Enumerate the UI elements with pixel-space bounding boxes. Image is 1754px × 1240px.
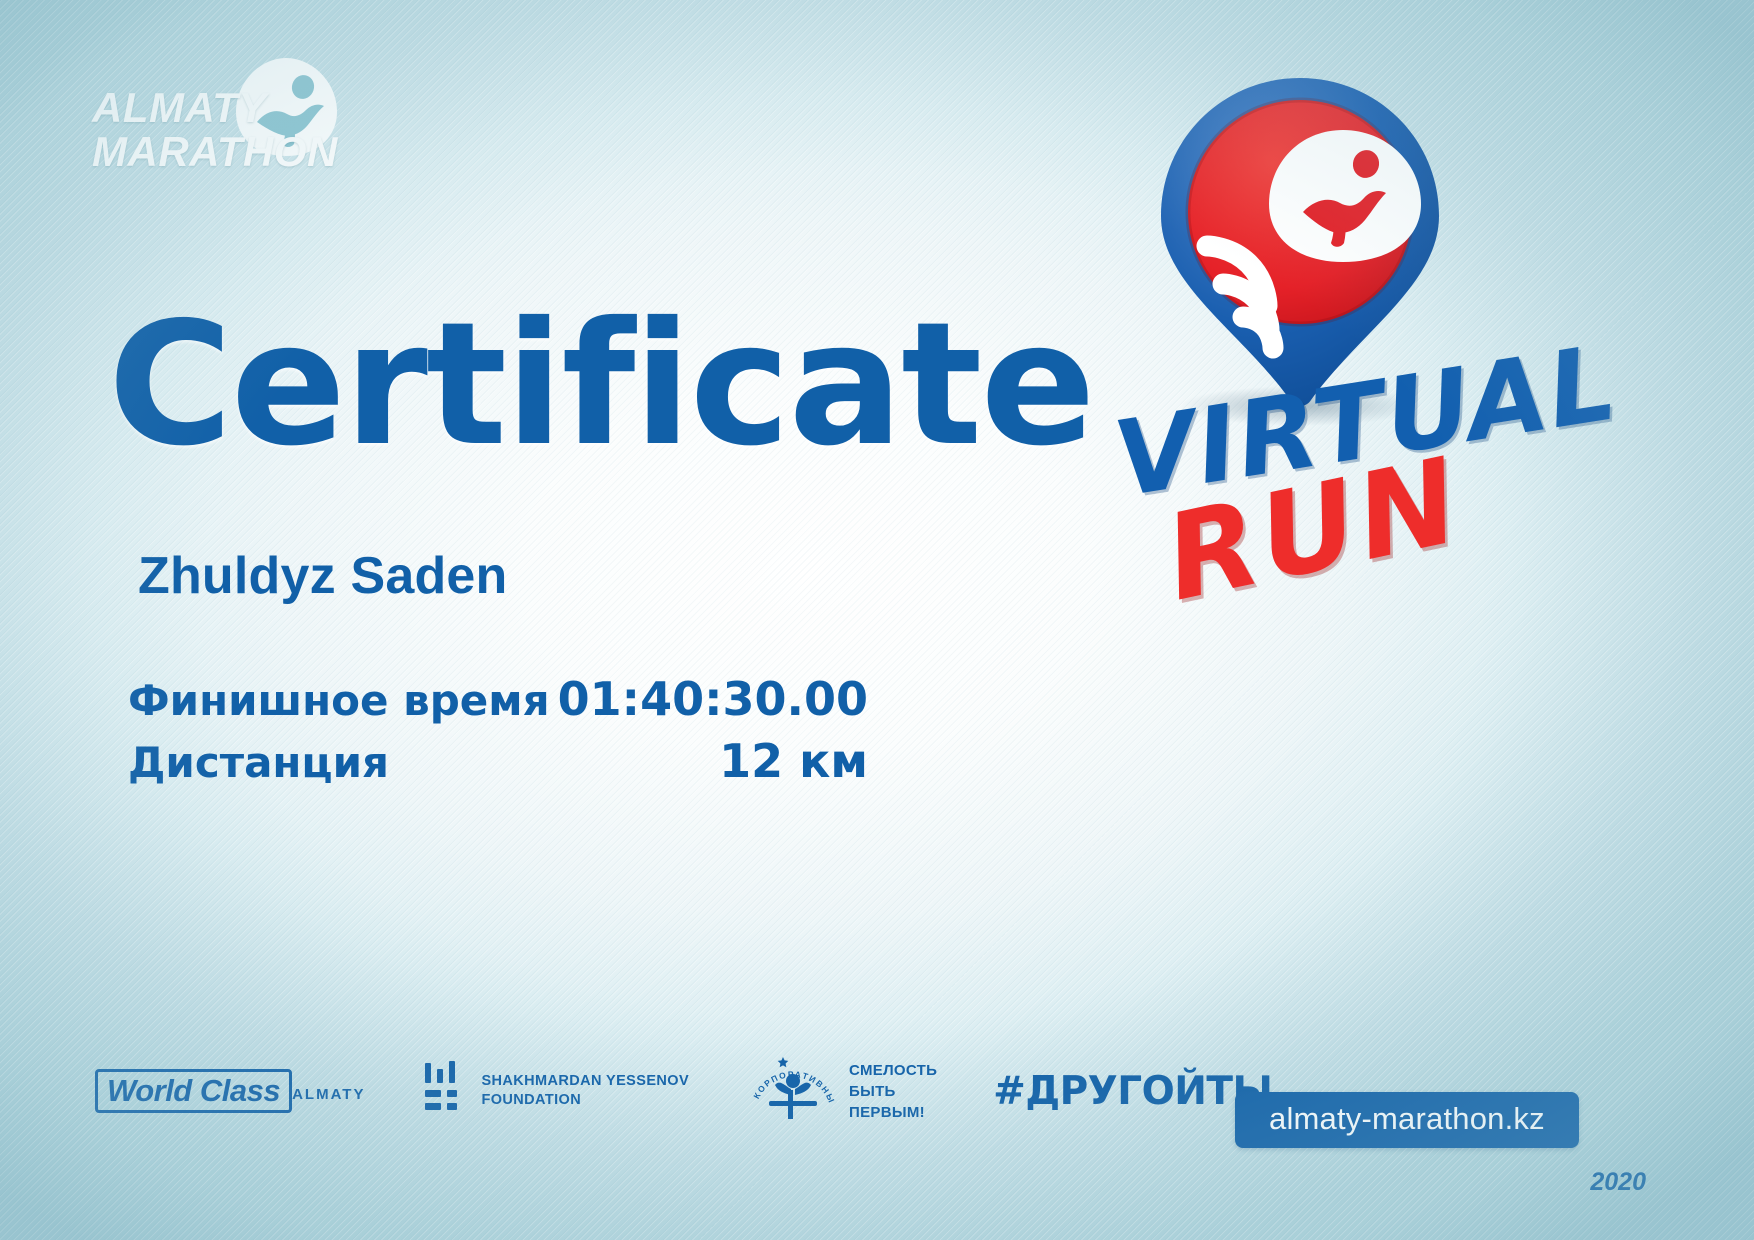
page-title: Certificate bbox=[108, 300, 1094, 470]
yessenov-blocks-icon bbox=[423, 1061, 469, 1122]
virtual-run-logo: VIRTUAL RUN bbox=[1055, 60, 1675, 620]
yessenov-wordmark: SHAKHMARDAN YESSENOV FOUNDATION bbox=[481, 1072, 689, 1110]
corporate-fund-line-1: СМЕЛОСТЬ bbox=[849, 1060, 937, 1081]
stat-row: Дистанция 12 км bbox=[128, 734, 868, 796]
athlete-name: Zhuldyz Saden bbox=[138, 546, 508, 606]
sponsor-world-class: World Class ALMATY bbox=[95, 1069, 365, 1113]
distance-label: Дистанция bbox=[128, 738, 389, 787]
almaty-marathon-logo: ALMATY MARATHON bbox=[92, 58, 422, 178]
finish-time-label: Финишное время bbox=[128, 676, 550, 725]
result-stats: Финишное время 01:40:30.00 Дистанция 12 … bbox=[128, 672, 868, 796]
marathon-line-2: MARATHON bbox=[92, 130, 338, 174]
year-label: 2020 bbox=[1590, 1168, 1646, 1197]
world-class-city: ALMATY bbox=[292, 1086, 365, 1103]
sponsor-corporate-fund: КОРПОРАТИВНЫЙ ФОНД СМЕЛОСТЬ БЫТЬ ПЕРВЫМ! bbox=[747, 1045, 937, 1137]
yessenov-line-1: SHAKHMARDAN YESSENOV bbox=[481, 1072, 689, 1091]
sponsor-yessenov-foundation: SHAKHMARDAN YESSENOV FOUNDATION bbox=[423, 1061, 689, 1122]
yessenov-line-2: FOUNDATION bbox=[481, 1091, 689, 1110]
distance-value: 12 км bbox=[719, 734, 868, 788]
stat-row: Финишное время 01:40:30.00 bbox=[128, 672, 868, 734]
corporate-fund-emblem-icon: КОРПОРАТИВНЫЙ ФОНД bbox=[747, 1045, 839, 1137]
world-class-logo: World Class bbox=[95, 1069, 292, 1113]
world-class-name: World Class bbox=[107, 1073, 280, 1108]
almaty-marathon-wordmark: ALMATY MARATHON bbox=[92, 86, 338, 174]
finish-time-value: 01:40:30.00 bbox=[558, 672, 868, 726]
certificate-canvas: ALMATY MARATHON bbox=[0, 0, 1754, 1240]
sponsor-row: World Class ALMATY bbox=[95, 1045, 1272, 1137]
website-pill[interactable]: almaty-marathon.kz bbox=[1235, 1092, 1579, 1148]
marathon-line-1: ALMATY bbox=[92, 86, 338, 130]
campaign-hashtag: #ДРУГОЙТЫ bbox=[993, 1069, 1272, 1114]
corporate-fund-slogan: СМЕЛОСТЬ БЫТЬ ПЕРВЫМ! bbox=[849, 1060, 937, 1123]
corporate-fund-line-3: ПЕРВЫМ! bbox=[849, 1102, 937, 1123]
corporate-fund-line-2: БЫТЬ bbox=[849, 1081, 937, 1102]
